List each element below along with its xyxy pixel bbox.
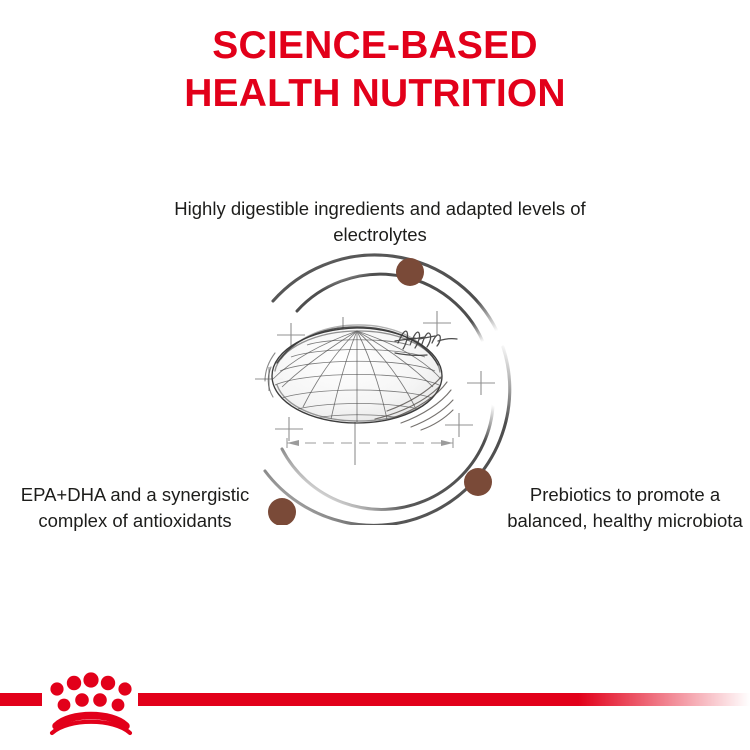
callout-left-text: EPA+DHA and a synergistic complex of ant… xyxy=(10,482,260,534)
page-title: SCIENCE-BASED HEALTH NUTRITION xyxy=(0,22,750,118)
kibble-sketch xyxy=(265,325,453,430)
crown-dots-top xyxy=(50,672,131,695)
poster-page: SCIENCE-BASED HEALTH NUTRITION Highly di… xyxy=(0,0,750,750)
kibble-technical-sketch-icon xyxy=(235,235,525,525)
royal-canin-crown-icon xyxy=(0,670,750,750)
footer-brand-bar xyxy=(0,670,750,750)
dimension-line xyxy=(287,438,453,448)
crown-dots-bottom xyxy=(58,693,125,711)
brand-bar-right xyxy=(138,693,750,706)
title-line-2: HEALTH NUTRITION xyxy=(0,70,750,118)
node-dot-right xyxy=(464,468,492,496)
node-dot-top xyxy=(396,258,424,286)
title-line-1: SCIENCE-BASED xyxy=(0,22,750,70)
node-dot-bottom-left xyxy=(268,498,296,525)
central-diagram xyxy=(235,235,525,525)
crown-base-arc xyxy=(52,716,130,734)
callout-right-text: Prebiotics to promote a balanced, health… xyxy=(500,482,750,534)
brand-bar-left xyxy=(0,693,42,706)
